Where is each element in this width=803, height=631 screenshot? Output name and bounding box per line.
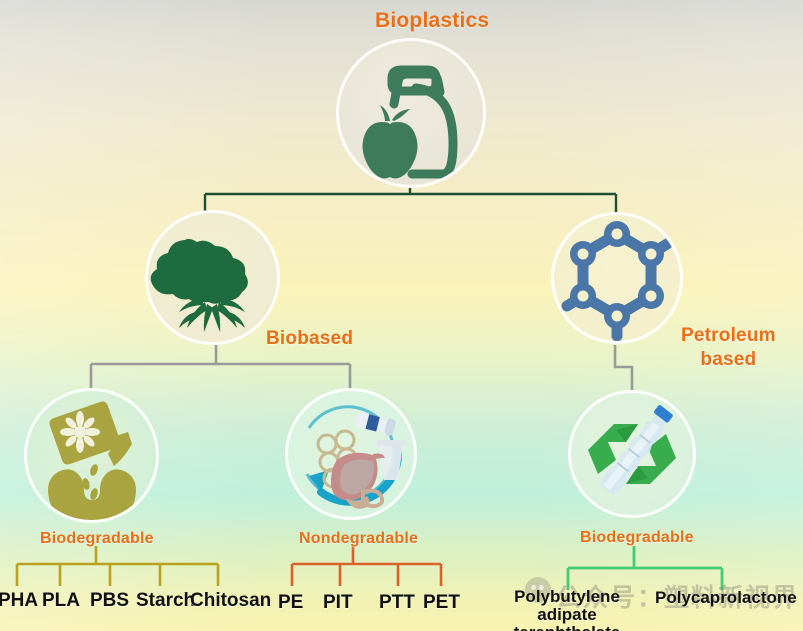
page-title: Bioplastics — [375, 9, 489, 33]
leaf-label-polybutylene-adipate-terephthalate: Polybutylene adipate terephthalate — [482, 588, 652, 631]
node-label-petroleum-line1: Petroleum — [681, 324, 776, 348]
biobased-biodegradable-icon-circle — [24, 388, 159, 523]
petroleum-biodegradable-icon-circle — [568, 390, 696, 518]
diagram-canvas: Bioplastics — [0, 0, 803, 631]
connector-biodegradable-leaves — [0, 546, 280, 594]
apple-in-bag-icon — [336, 38, 486, 188]
root-icon-circle — [336, 38, 486, 188]
benzene-ring-icon — [551, 212, 683, 344]
leaf-label-pla: PLA — [42, 590, 80, 612]
node-label-petroleum-based: Petroleum based — [681, 324, 776, 372]
leaf-label-pbs: PBS — [90, 590, 129, 612]
ppe-recycle-icon — [285, 388, 417, 520]
node-label-biobased: Biobased — [266, 328, 353, 350]
leaf-label-pe: PE — [278, 592, 303, 614]
node-label-petroleum-line2: based — [681, 348, 776, 372]
bottle-recycle-icon — [568, 390, 696, 518]
leaf-label-starch: Starch — [136, 590, 195, 612]
node-label-petroleum-biodegradable: Biodegradable — [580, 529, 694, 547]
leaf-label-pet: PET — [423, 592, 460, 614]
connector-nondegradable-leaves — [265, 546, 475, 594]
node-label-biobased-biodegradable: Biodegradable — [40, 530, 154, 548]
node-label-biobased-nondegradable: Nondegradable — [299, 530, 418, 548]
leaf-label-pha: PHA — [0, 590, 38, 612]
leaf-label-polycaprolactone: Polycaprolactone — [655, 588, 797, 608]
leaf-label-chitosan: Chitosan — [190, 590, 271, 612]
tree-icon — [145, 210, 280, 345]
biobased-nondegradable-icon-circle — [285, 388, 417, 520]
petroleum-icon-circle — [551, 212, 683, 344]
leaf-label-pit: PIT — [323, 592, 353, 614]
leaf-label-ptt: PTT — [379, 592, 415, 614]
starch-pour-icon — [24, 388, 159, 523]
biobased-icon-circle — [145, 210, 280, 345]
